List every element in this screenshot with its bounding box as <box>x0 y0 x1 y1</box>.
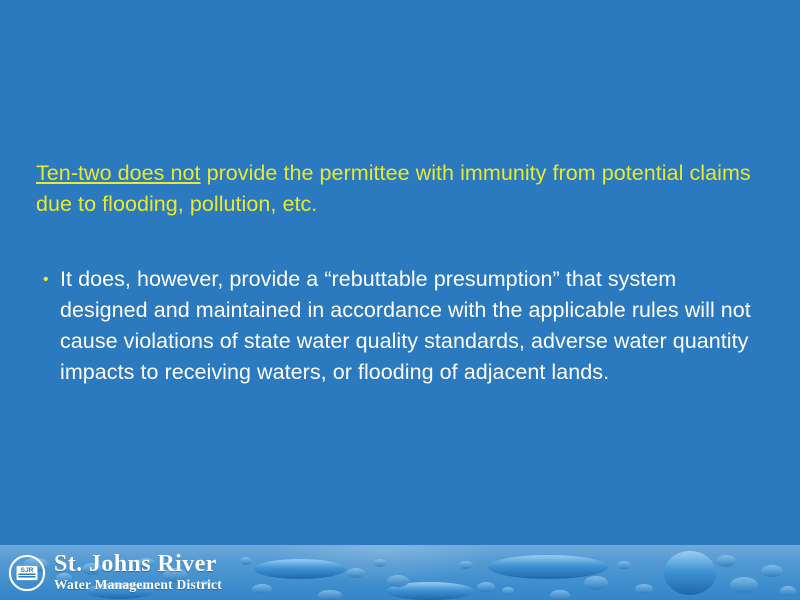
logo-wordmark: St. Johns River Water Management Distric… <box>54 552 222 594</box>
footer-water-band: SJR St. Johns River Water Management Dis… <box>0 545 800 600</box>
svg-text:SJR: SJR <box>21 567 34 574</box>
lead-paragraph-emphasis: Ten-two does not <box>36 161 201 185</box>
logo-organization-name: St. Johns River <box>54 552 222 576</box>
lead-paragraph: Ten-two does not provide the permittee w… <box>36 158 762 220</box>
organization-logo: SJR St. Johns River Water Management Dis… <box>8 550 222 596</box>
logo-organization-subtitle: Water Management District <box>54 578 222 592</box>
slide-canvas: Ten-two does not provide the permittee w… <box>0 0 800 600</box>
sjr-emblem-icon: SJR <box>8 554 46 592</box>
list-item: • It does, however, provide a “rebuttabl… <box>36 264 762 388</box>
bullet-marker-icon: • <box>36 264 60 295</box>
bullet-text: It does, however, provide a “rebuttable … <box>60 264 760 388</box>
slide-body: Ten-two does not provide the permittee w… <box>36 158 762 388</box>
